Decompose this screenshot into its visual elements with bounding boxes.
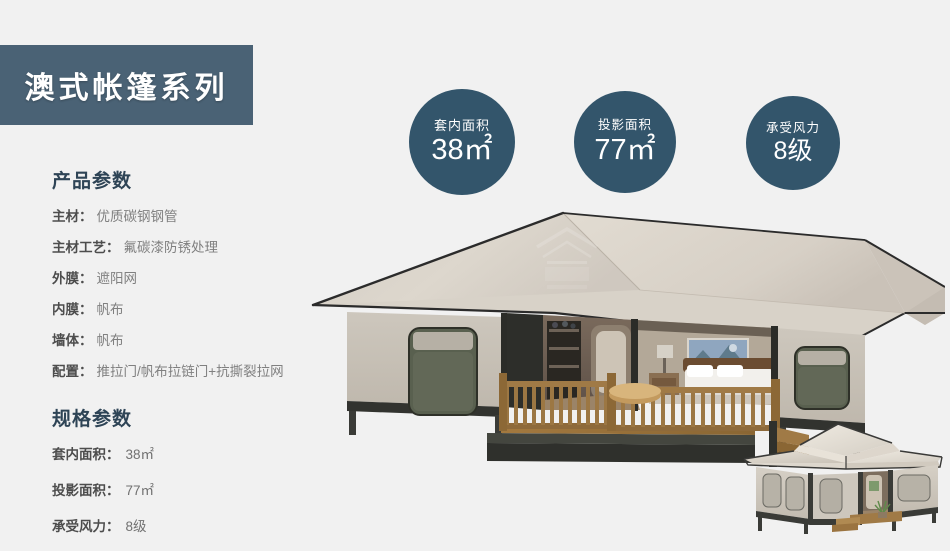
param-label: 主材工艺： xyxy=(52,236,120,256)
spec-label: 承受风力： xyxy=(52,515,120,535)
param-label: 墙体： xyxy=(52,329,93,349)
spec-label: 套内面积： xyxy=(52,443,120,463)
stat-label: 承受风力 xyxy=(766,122,820,136)
spec-row: 投影面积： 77㎡ xyxy=(52,479,352,499)
spec-label: 投影面积： xyxy=(52,479,120,499)
stat-label: 投影面积 xyxy=(598,119,652,133)
stat-value: 77㎡ xyxy=(594,135,655,165)
spec-value: 77㎡ xyxy=(126,479,155,499)
stat-circle-wind-resistance: 承受风力 8级 xyxy=(746,96,840,190)
spec-value: 8级 xyxy=(126,515,147,535)
param-value: 氟碳漆防锈处理 xyxy=(124,236,219,256)
slide-canvas: 澳式帐篷系列 产品参数 主材： 优质碳钢钢管 主材工艺： 氟碳漆防锈处理 外膜：… xyxy=(0,0,950,534)
param-value: 遮阳网 xyxy=(97,267,138,287)
param-value: 帆布 xyxy=(97,329,124,349)
stat-circle-interior-area: 套内面积 38㎡ xyxy=(409,89,515,195)
product-section-heading: 产品参数 xyxy=(52,166,352,193)
stat-label: 套内面积 xyxy=(434,119,490,133)
param-value: 优质碳钢钢管 xyxy=(97,205,178,225)
title-banner: 澳式帐篷系列 xyxy=(0,45,253,125)
param-label: 内膜： xyxy=(52,298,93,318)
spec-value: 38㎡ xyxy=(126,443,155,463)
param-value: 帆布 xyxy=(97,298,124,318)
param-value: 推拉门/帆布拉链门+抗撕裂拉网 xyxy=(97,360,284,380)
stat-circle-projected-area: 投影面积 77㎡ xyxy=(574,91,676,193)
param-label: 外膜： xyxy=(52,267,93,287)
spec-row: 承受风力： 8级 xyxy=(52,515,352,535)
stat-value: 8级 xyxy=(774,138,813,164)
thumbnail-tent-image xyxy=(742,415,947,534)
page-title: 澳式帐篷系列 xyxy=(25,63,229,107)
param-label: 主材： xyxy=(52,205,93,225)
param-label: 配置： xyxy=(52,360,93,380)
stat-value: 38㎡ xyxy=(431,135,492,165)
